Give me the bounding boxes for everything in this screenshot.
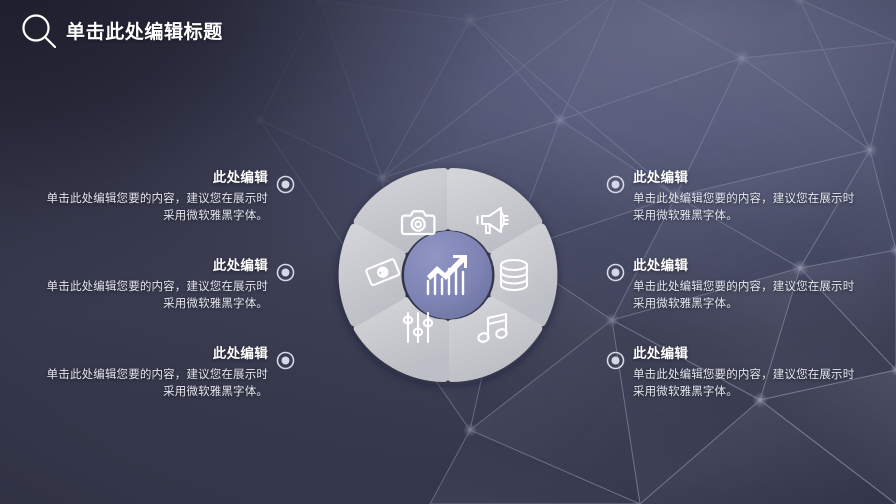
hexagonal-wheel-diagram [328,155,568,395]
block-heading: 此处编辑 [633,346,865,362]
target-ring-icon [606,351,625,370]
equalizer-sliders-icon [404,313,432,342]
block-body: 单击此处编辑您要的内容，建议您在展示时采用微软雅黑字体。 [36,191,268,225]
slide-header: 单击此处编辑标题 [0,0,896,62]
block-heading: 此处编辑 [36,170,268,186]
target-ring-icon [276,175,295,194]
text-block-right-1[interactable]: 此处编辑 单击此处编辑您要的内容，建议您在展示时采用微软雅黑字体。 [606,170,865,225]
text-block-right-3[interactable]: 此处编辑 单击此处编辑您要的内容，建议您在展示时采用微软雅黑字体。 [606,346,865,401]
block-body: 单击此处编辑您要的内容，建议您在展示时采用微软雅黑字体。 [36,279,268,313]
block-heading: 此处编辑 [36,346,268,362]
text-block-left-2[interactable]: 此处编辑 单击此处编辑您要的内容，建议您在展示时采用微软雅黑字体。 [36,258,295,313]
page-title: 单击此处编辑标题 [66,17,223,44]
block-heading: 此处编辑 [633,170,865,186]
target-ring-icon [276,351,295,370]
target-ring-icon [606,175,625,194]
text-block-left-3[interactable]: 此处编辑 单击此处编辑您要的内容，建议您在展示时采用微软雅黑字体。 [36,346,295,401]
block-body: 单击此处编辑您要的内容，建议您在展示时采用微软雅黑字体。 [633,279,865,313]
text-block-right-2[interactable]: 此处编辑 单击此处编辑您要的内容，建议您在展示时采用微软雅黑字体。 [606,258,865,313]
target-ring-icon [606,263,625,282]
slide: 单击此处编辑标题 此处编辑 单击此处编辑您要的内容，建议您在展示时采用微软雅黑字… [0,0,896,504]
text-block-left-1[interactable]: 此处编辑 单击此处编辑您要的内容，建议您在展示时采用微软雅黑字体。 [36,170,295,225]
block-heading: 此处编辑 [633,258,865,274]
block-heading: 此处编辑 [36,258,268,274]
block-body: 单击此处编辑您要的内容，建议您在展示时采用微软雅黑字体。 [36,367,268,401]
block-body: 单击此处编辑您要的内容，建议您在展示时采用微软雅黑字体。 [633,191,865,225]
block-body: 单击此处编辑您要的内容，建议您在展示时采用微软雅黑字体。 [633,367,865,401]
target-ring-icon [276,263,295,282]
search-icon [17,9,61,53]
